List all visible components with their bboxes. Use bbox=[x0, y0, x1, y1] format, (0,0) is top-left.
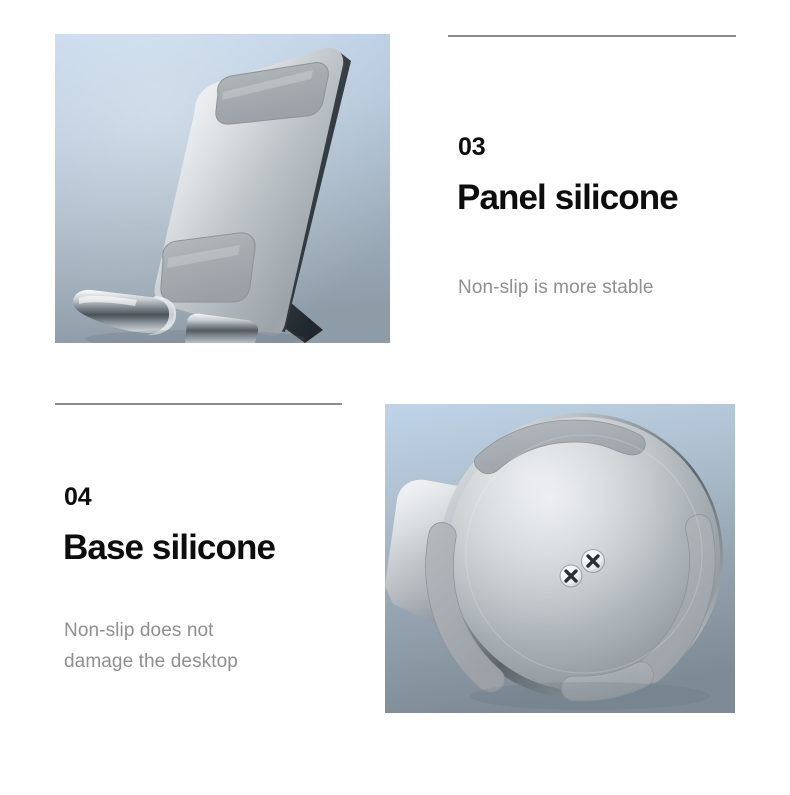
feature-block-base-silicone: 04 Base silicone Non-slip does not damag… bbox=[55, 395, 355, 685]
feature-title: Base silicone bbox=[63, 530, 275, 565]
feature-number: 04 bbox=[64, 485, 91, 510]
infographic-page: 03 Panel silicone Non-slip is more stabl… bbox=[0, 0, 790, 795]
feature-block-panel-silicone: 03 Panel silicone Non-slip is more stabl… bbox=[448, 28, 748, 298]
feature-divider bbox=[55, 403, 342, 405]
phone-stand-panel-photo bbox=[55, 34, 390, 343]
feature-subtitle: Non-slip does not damage the desktop bbox=[64, 615, 238, 677]
phone-stand-base-photo bbox=[385, 404, 735, 713]
feature-number: 03 bbox=[458, 135, 485, 160]
screw-lower-left bbox=[560, 565, 582, 587]
feature-title: Panel silicone bbox=[457, 180, 678, 215]
feature-divider bbox=[448, 35, 736, 37]
panel-bottom-silicone-pad bbox=[161, 233, 255, 302]
screw-upper-right bbox=[582, 550, 605, 573]
feature-subtitle: Non-slip is more stable bbox=[458, 272, 654, 303]
